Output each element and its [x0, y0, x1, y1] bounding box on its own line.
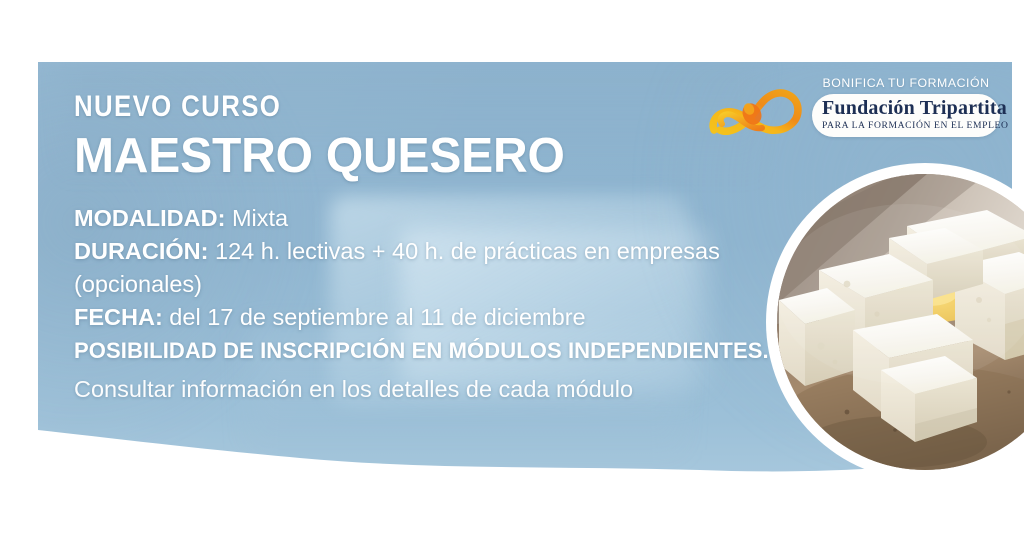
- detail-row-fecha: FECHA: del 17 de septiembre al 11 de dic…: [74, 302, 774, 332]
- footnote-note: Consultar información en los detalles de…: [74, 374, 774, 404]
- detail-continuation: (opcionales): [74, 269, 774, 299]
- detail-label-modalidad: MODALIDAD:: [74, 205, 225, 231]
- detail-row-duracion: DURACIÓN: 124 h. lectivas + 40 h. de prá…: [74, 236, 774, 266]
- emphasis-note: POSIBILIDAD DE INSCRIPCIÓN EN MÓDULOS IN…: [74, 336, 774, 366]
- detail-value-modalidad: Mixta: [225, 205, 288, 231]
- banner-copy: NUEVO CURSO MAESTRO QUESERO MODALIDAD: M…: [74, 92, 774, 407]
- detail-label-fecha: FECHA:: [74, 304, 163, 330]
- logo-title: Fundación Tripartita: [822, 98, 990, 119]
- logo-pill: Fundación Tripartita PARA LA FORMACIÓN E…: [812, 94, 1000, 137]
- detail-row-modalidad: MODALIDAD: Mixta: [74, 203, 774, 233]
- logo-subtitle: PARA LA FORMACIÓN EN EL EMPLEO: [822, 120, 990, 132]
- detail-value-fecha: del 17 de septiembre al 11 de diciembre: [163, 304, 586, 330]
- logo-text-lockup: BONIFICA TU FORMACIÓN Fundación Triparti…: [812, 76, 1000, 137]
- cheese-photo-frame: [777, 174, 1024, 470]
- detail-value-duracion: 124 h. lectivas + 40 h. de prácticas en …: [208, 238, 719, 264]
- cheese-cubes-photo: [777, 174, 1024, 470]
- infinity-swirl-icon: [708, 84, 806, 140]
- fundacion-tripartita-logo: BONIFICA TU FORMACIÓN Fundación Triparti…: [708, 76, 1000, 144]
- eyebrow-label: NUEVO CURSO: [74, 92, 676, 122]
- logo-tagline: BONIFICA TU FORMACIÓN: [812, 76, 1000, 90]
- banner-canvas: NUEVO CURSO MAESTRO QUESERO MODALIDAD: M…: [0, 0, 1024, 538]
- detail-label-duracion: DURACIÓN:: [74, 238, 208, 264]
- course-title: MAESTRO QUESERO: [74, 132, 760, 181]
- cheese-photo-circle: [766, 163, 1024, 481]
